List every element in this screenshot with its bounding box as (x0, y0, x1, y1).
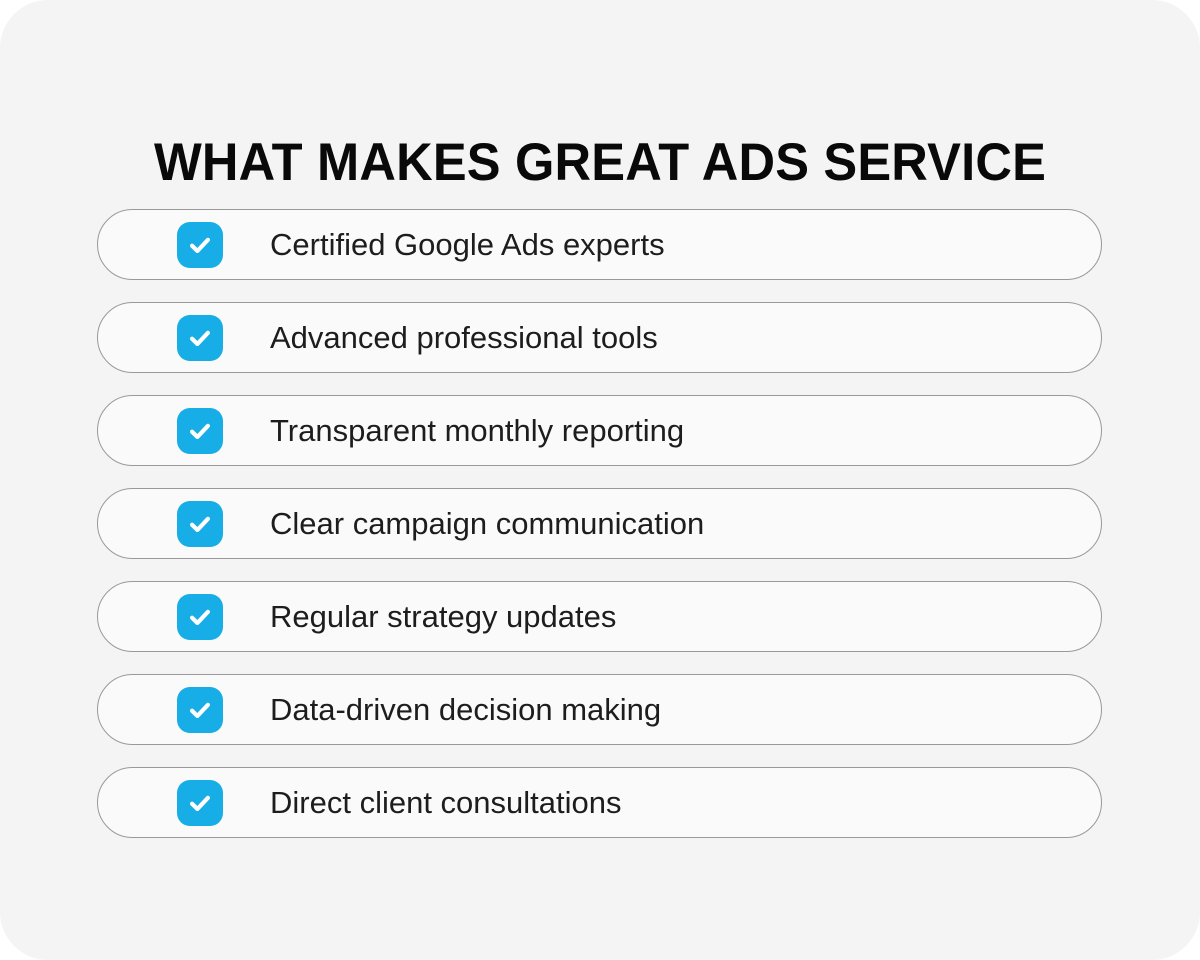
list-item-label: Advanced professional tools (270, 319, 658, 357)
list-item[interactable]: Certified Google Ads experts (97, 209, 1102, 280)
list-item[interactable]: Advanced professional tools (97, 302, 1102, 373)
list-item[interactable]: Transparent monthly reporting (97, 395, 1102, 466)
check-icon (177, 501, 223, 547)
list-item-label: Certified Google Ads experts (270, 226, 665, 264)
check-icon (177, 315, 223, 361)
list-item-label: Data-driven decision making (270, 691, 661, 729)
list-item[interactable]: Clear campaign communication (97, 488, 1102, 559)
feature-card: WHAT MAKES GREAT ADS SERVICE Certified G… (0, 0, 1200, 960)
list-item[interactable]: Regular strategy updates (97, 581, 1102, 652)
list-item-label: Regular strategy updates (270, 598, 616, 636)
page-title: WHAT MAKES GREAT ADS SERVICE (27, 132, 1173, 194)
list-item-label: Clear campaign communication (270, 505, 704, 543)
check-icon (177, 408, 223, 454)
list-item[interactable]: Data-driven decision making (97, 674, 1102, 745)
check-icon (177, 687, 223, 733)
check-icon (177, 780, 223, 826)
list-item[interactable]: Direct client consultations (97, 767, 1102, 838)
list-item-label: Transparent monthly reporting (270, 412, 684, 450)
list-item-label: Direct client consultations (270, 784, 622, 822)
check-icon (177, 594, 223, 640)
feature-list: Certified Google Ads experts Advanced pr… (97, 209, 1102, 838)
check-icon (177, 222, 223, 268)
